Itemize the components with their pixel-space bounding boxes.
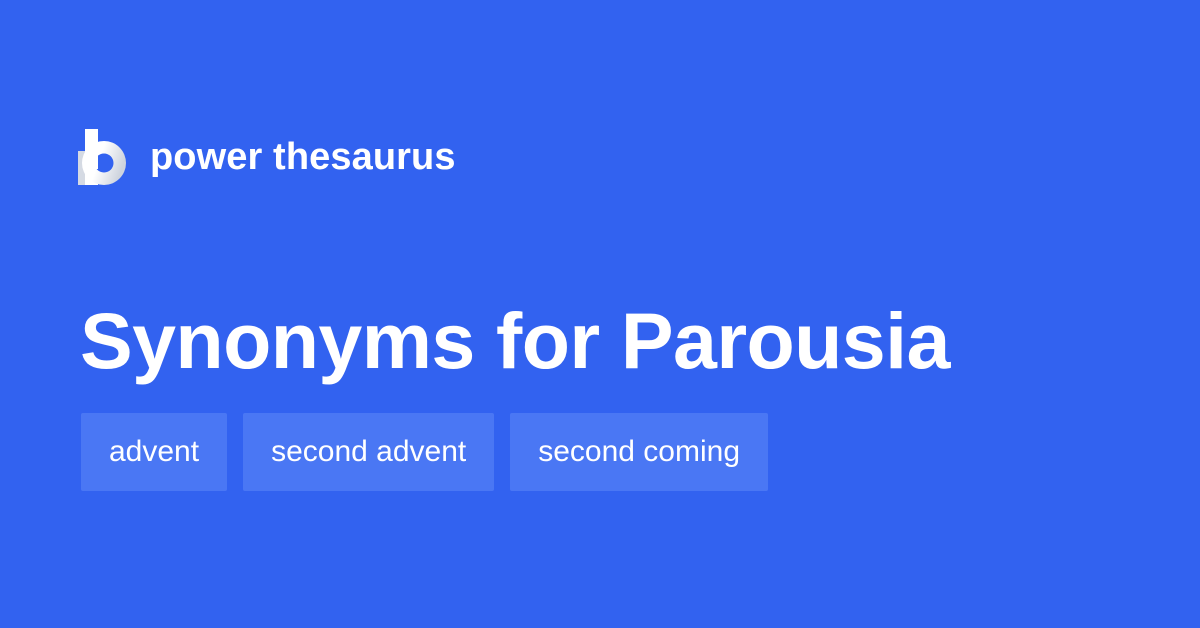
brand-name: power thesaurus	[150, 138, 456, 176]
synonym-chip-list: advent second advent second coming	[81, 413, 768, 491]
share-card: power thesaurus Synonyms for Parousia ad…	[0, 0, 1200, 628]
synonym-chip[interactable]: second advent	[243, 413, 494, 491]
synonym-chip[interactable]: second coming	[510, 413, 768, 491]
brand-row[interactable]: power thesaurus	[78, 126, 456, 188]
page-title: Synonyms for Parousia	[80, 301, 950, 380]
power-thesaurus-b-logo-icon	[78, 129, 126, 185]
synonym-chip[interactable]: advent	[81, 413, 227, 491]
